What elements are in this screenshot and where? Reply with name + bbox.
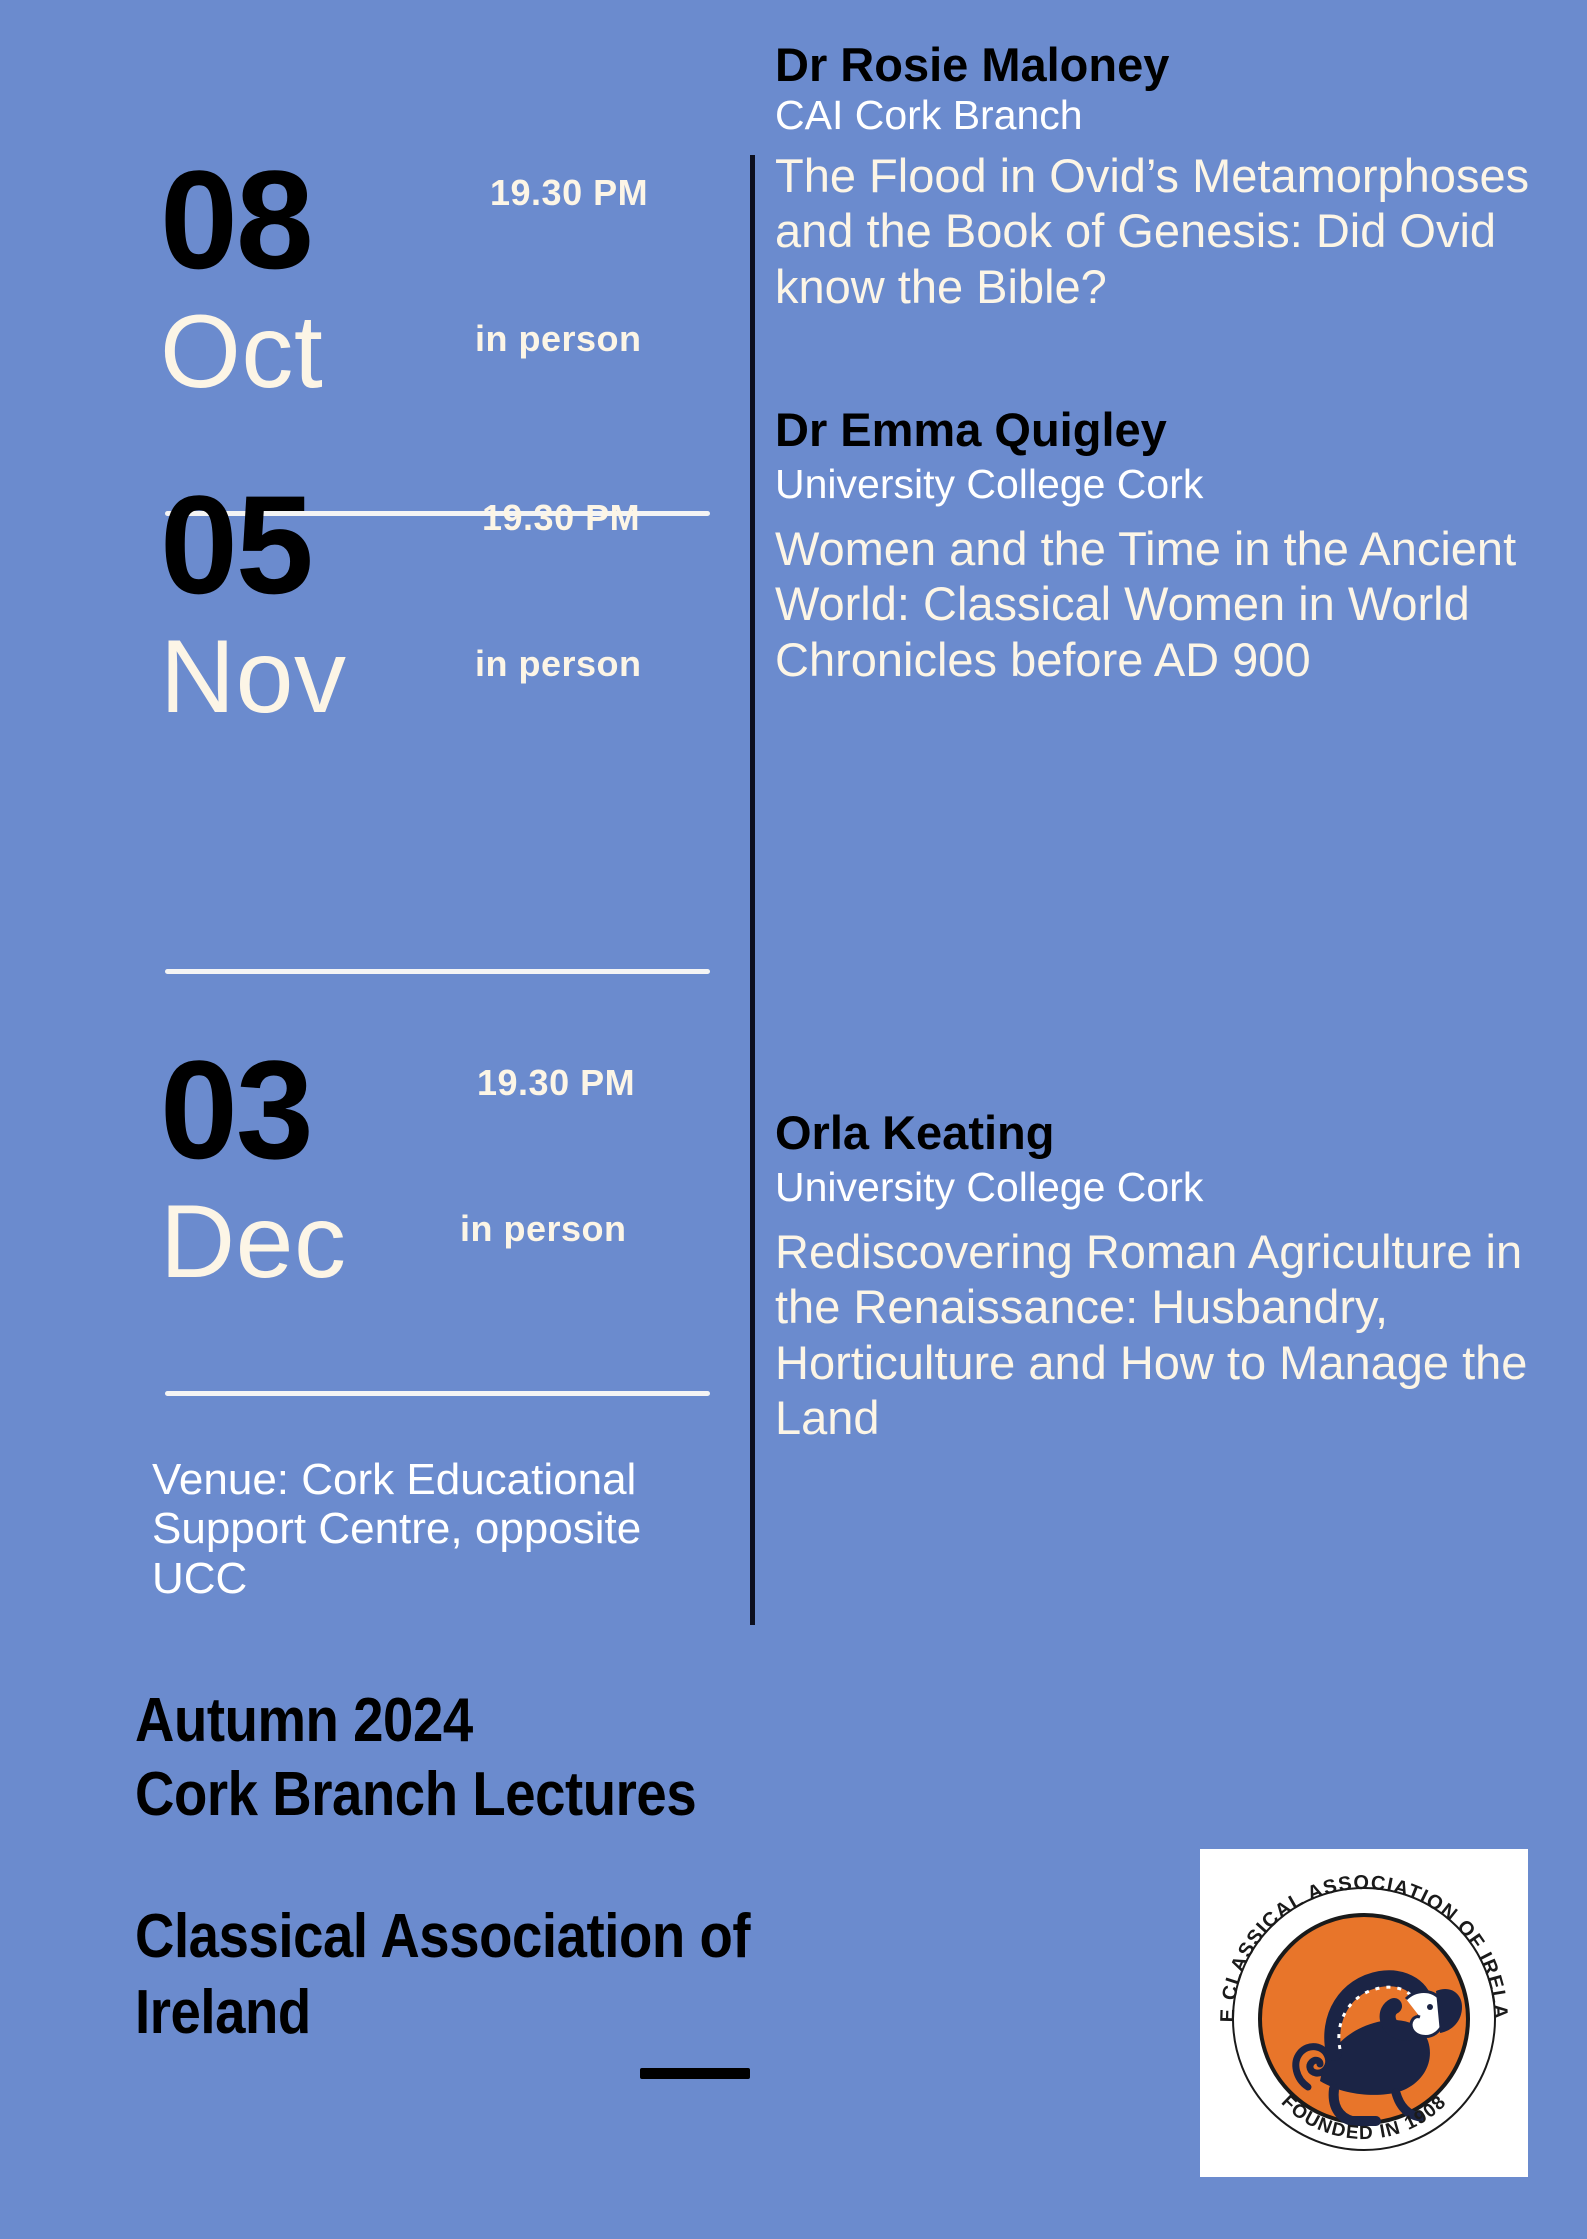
lecture-item-dec: Orla Keating University College Cork Red…	[775, 1108, 1587, 1446]
footer-series: Cork Branch Lectures	[135, 1764, 1103, 1826]
lecture-title-nov: Women and the Time in the Ancient World:…	[775, 521, 1587, 687]
footer-headings: Autumn 2024 Cork Branch Lectures Classic…	[135, 1690, 1235, 2044]
lecture-speaker-nov: Dr Emma Quigley	[775, 405, 1587, 456]
date-month-dec: Dec	[160, 1190, 346, 1294]
date-mode-nov: in person	[475, 643, 642, 685]
date-time-oct: 19.30 PM	[490, 172, 648, 214]
lecture-affiliation-dec: University College Cork	[775, 1165, 1587, 1210]
date-mode-oct: in person	[475, 318, 642, 360]
lecture-title-oct: The Flood in Ovid’s Metamorphoses and th…	[775, 148, 1587, 314]
date-month-oct: Oct	[160, 300, 323, 404]
date-column: 08 Oct 19.30 PM in person 05 Nov 19.30 P…	[0, 0, 750, 1660]
footer-organisation-line1: Classical Association of	[135, 1906, 1103, 1968]
footer-dash-rule	[640, 2068, 750, 2079]
date-mode-dec: in person	[460, 1208, 627, 1250]
cai-logo-seal: THE CLASSICAL ASSOCIATION OF IRELAND FOU…	[1200, 1849, 1528, 2177]
lecture-affiliation-oct: CAI Cork Branch	[775, 93, 1587, 138]
date-day-dec: 03	[160, 1040, 312, 1180]
date-day-oct: 08	[160, 150, 312, 290]
lecture-title-dec: Rediscovering Roman Agriculture in the R…	[775, 1224, 1587, 1446]
lecture-item-nov: Dr Emma Quigley University College Cork …	[775, 405, 1587, 687]
lecture-affiliation-nov: University College Cork	[775, 462, 1587, 507]
lecture-speaker-dec: Orla Keating	[775, 1108, 1587, 1159]
poster-canvas: 08 Oct 19.30 PM in person 05 Nov 19.30 P…	[0, 0, 1587, 2239]
divider-rule-3	[165, 1391, 710, 1396]
lecture-speaker-oct: Dr Rosie Maloney	[775, 40, 1587, 91]
lecture-item-oct: Dr Rosie Maloney CAI Cork Branch The Flo…	[775, 40, 1587, 314]
date-day-nov: 05	[160, 475, 312, 615]
footer-organisation-line2: Ireland	[135, 1982, 1103, 2044]
date-time-nov: 19.30 PM	[482, 497, 640, 539]
vertical-divider	[750, 155, 755, 1625]
date-time-dec: 19.30 PM	[477, 1062, 635, 1104]
date-month-nov: Nov	[160, 625, 346, 729]
footer-season: Autumn 2024	[135, 1690, 1103, 1752]
venue-info: Venue: Cork Educational Support Centre, …	[152, 1455, 732, 1603]
cai-logo: THE CLASSICAL ASSOCIATION OF IRELAND FOU…	[1200, 1849, 1528, 2177]
divider-rule-2	[165, 969, 710, 974]
